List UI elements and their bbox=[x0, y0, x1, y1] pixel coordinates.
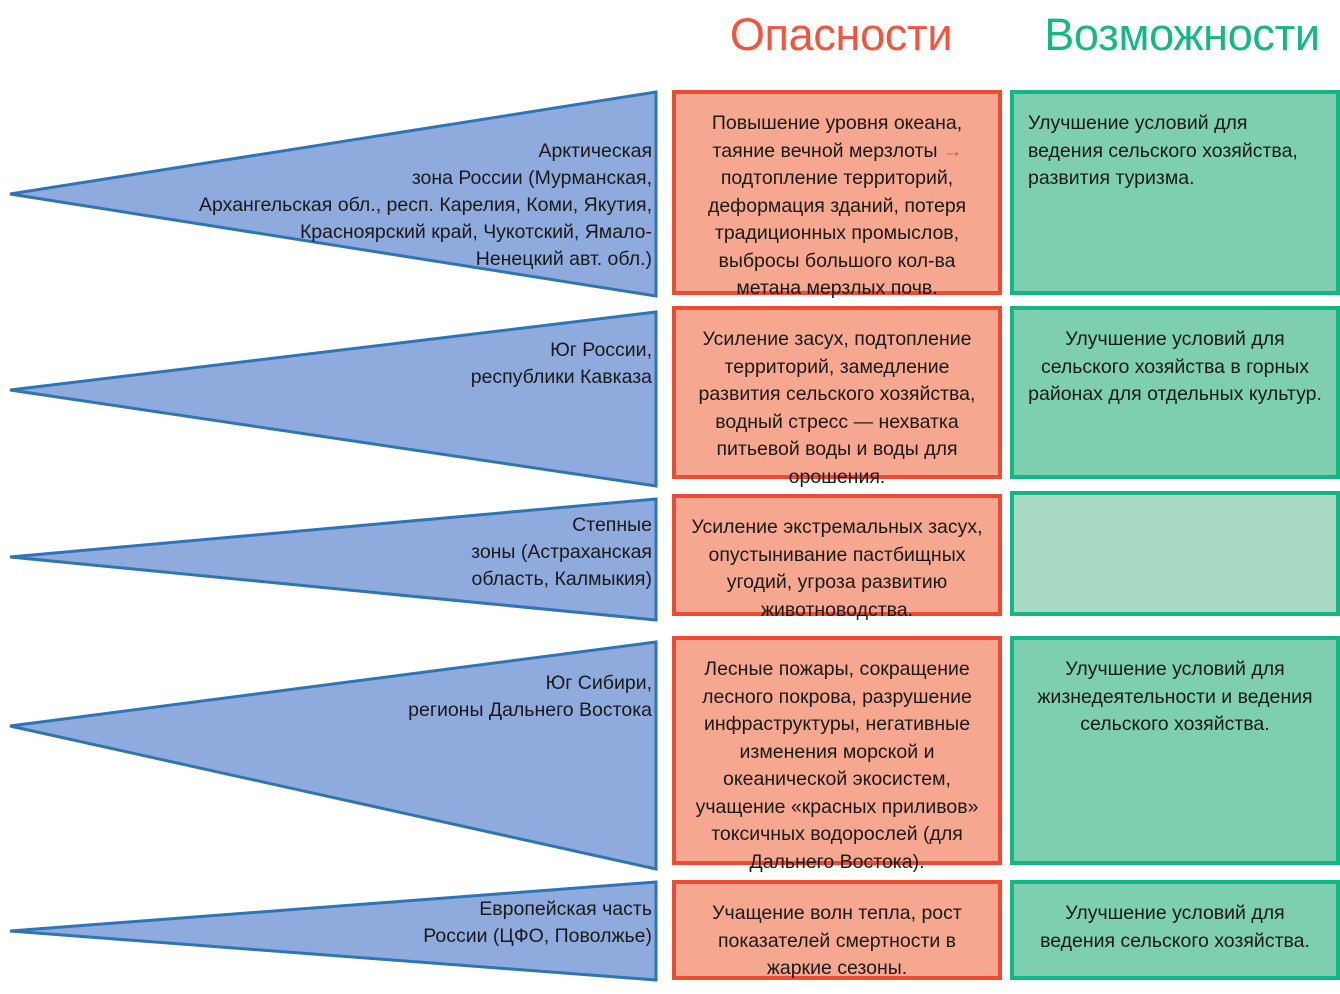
table-row: Степные зоны (Астраханская область, Калм… bbox=[0, 497, 1340, 622]
opportunity-cell: Улучшение условий для жизнедеятельности … bbox=[1010, 636, 1340, 865]
column-header-opportunities: Возможности bbox=[1012, 0, 1340, 70]
danger-text: Усиление засух, подтопление территорий, … bbox=[690, 326, 984, 491]
arrow-right-icon: → bbox=[943, 140, 962, 162]
table-row: Европейская часть России (ЦФО, Поволжье)… bbox=[0, 880, 1340, 982]
infographic-root: Опасности Возможности Арктическая зона Р… bbox=[0, 0, 1340, 994]
opportunity-text: Улучшение условий для ведения сельского … bbox=[1028, 900, 1322, 955]
danger-text: Учащение волн тепла, рост показателей см… bbox=[690, 900, 984, 983]
danger-text: Усиление экстремальных засух, опустынива… bbox=[690, 514, 984, 624]
opportunity-text: Улучшение условий для жизнедеятельности … bbox=[1028, 656, 1322, 739]
column-header-dangers: Опасности bbox=[676, 0, 1006, 70]
opportunity-cell: Улучшение условий для ведения сельского … bbox=[1010, 880, 1340, 980]
danger-cell: Усиление экстремальных засух, опустынива… bbox=[672, 494, 1002, 616]
region-triangle-south-siberia: Юг Сибири, регионы Дальнего Востока bbox=[0, 640, 660, 871]
opportunity-cell bbox=[1010, 491, 1340, 616]
region-triangle-arctic: Арктическая зона России (Мурманская, Арх… bbox=[0, 90, 660, 298]
region-triangle-south-russia: Юг России, республики Кавказа bbox=[0, 310, 660, 488]
opportunity-text: Улучшение условий для сельского хозяйств… bbox=[1028, 326, 1322, 409]
table-row: Арктическая зона России (Мурманская, Арх… bbox=[0, 90, 1340, 298]
table-row: Юг Сибири, регионы Дальнего Востока Лесн… bbox=[0, 640, 1340, 871]
region-label: Степные зоны (Астраханская область, Калм… bbox=[182, 512, 652, 593]
region-triangle-steppe: Степные зоны (Астраханская область, Калм… bbox=[0, 497, 660, 622]
danger-cell: Учащение волн тепла, рост показателей см… bbox=[672, 880, 1002, 980]
danger-text: Лесные пожары, сокращение лесного покров… bbox=[690, 656, 984, 876]
region-label: Юг Сибири, регионы Дальнего Востока bbox=[182, 670, 652, 724]
opportunity-cell: Улучшение условий для ведения сельского … bbox=[1010, 90, 1340, 295]
opportunity-cell: Улучшение условий для сельского хозяйств… bbox=[1010, 306, 1340, 479]
table-row: Юг России, республики Кавказа Усиление з… bbox=[0, 310, 1340, 488]
region-label: Арктическая зона России (Мурманская, Арх… bbox=[182, 138, 652, 273]
opportunity-text: Улучшение условий для ведения сельского … bbox=[1028, 110, 1322, 193]
danger-text: Повышение уровня океана, таяние вечной м… bbox=[690, 110, 984, 303]
region-triangle-european-russia: Европейская часть России (ЦФО, Поволжье) bbox=[0, 880, 660, 982]
region-label: Европейская часть России (ЦФО, Поволжье) bbox=[182, 896, 652, 950]
danger-cell: Усиление засух, подтопление территорий, … bbox=[672, 306, 1002, 479]
danger-cell: Лесные пожары, сокращение лесного покров… bbox=[672, 636, 1002, 865]
region-label: Юг России, республики Кавказа bbox=[182, 337, 652, 391]
danger-cell: Повышение уровня океана, таяние вечной м… bbox=[672, 90, 1002, 295]
